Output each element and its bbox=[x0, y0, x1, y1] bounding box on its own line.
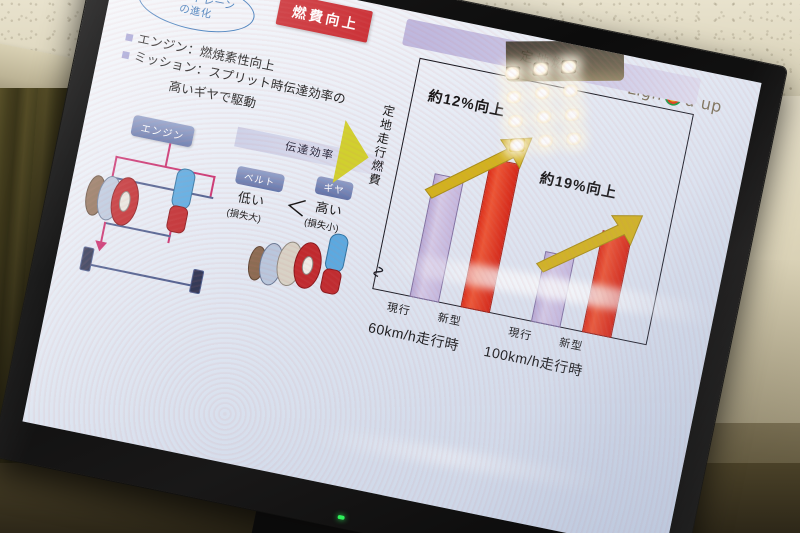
diagram-arrow-down-icon bbox=[93, 240, 107, 252]
engine-label-box: エンジン bbox=[130, 115, 195, 148]
screen-glare-streak-lower bbox=[314, 426, 613, 494]
presentation-slide: Ligh u up パワートレーン の進化 燃費向上 エンジン：燃焼素性向上 bbox=[22, 0, 761, 533]
fuel-economy-badge: 燃費向上 bbox=[275, 0, 373, 43]
diagram-wheel-right bbox=[189, 269, 205, 295]
bar-label-2: 現行 bbox=[507, 323, 534, 343]
diagram-connector bbox=[209, 176, 215, 198]
diagram-wheel-left bbox=[79, 246, 95, 272]
television: SONY LB-5 Ligh u up パワートレーン の進化 燃費向上 bbox=[0, 0, 787, 533]
bullet-square-icon bbox=[125, 33, 133, 41]
bar-label-1: 新型 bbox=[436, 309, 463, 329]
bullet-square-icon bbox=[122, 51, 130, 59]
power-led-indicator bbox=[337, 515, 345, 520]
bar-label-3: 新型 bbox=[558, 334, 585, 354]
ceiling-light-housing-reflection bbox=[506, 41, 624, 82]
pulley-assembly-left-icon bbox=[76, 165, 156, 234]
tv-screen: Ligh u up パワートレーン の進化 燃費向上 エンジン：燃焼素性向上 bbox=[22, 0, 761, 533]
bar-label-0: 現行 bbox=[385, 298, 412, 318]
belt-pulley-icon bbox=[156, 162, 207, 246]
tv-bezel: SONY LB-5 Ligh u up パワートレーン の進化 燃費向上 bbox=[0, 0, 787, 533]
diagram-connector bbox=[85, 263, 201, 289]
